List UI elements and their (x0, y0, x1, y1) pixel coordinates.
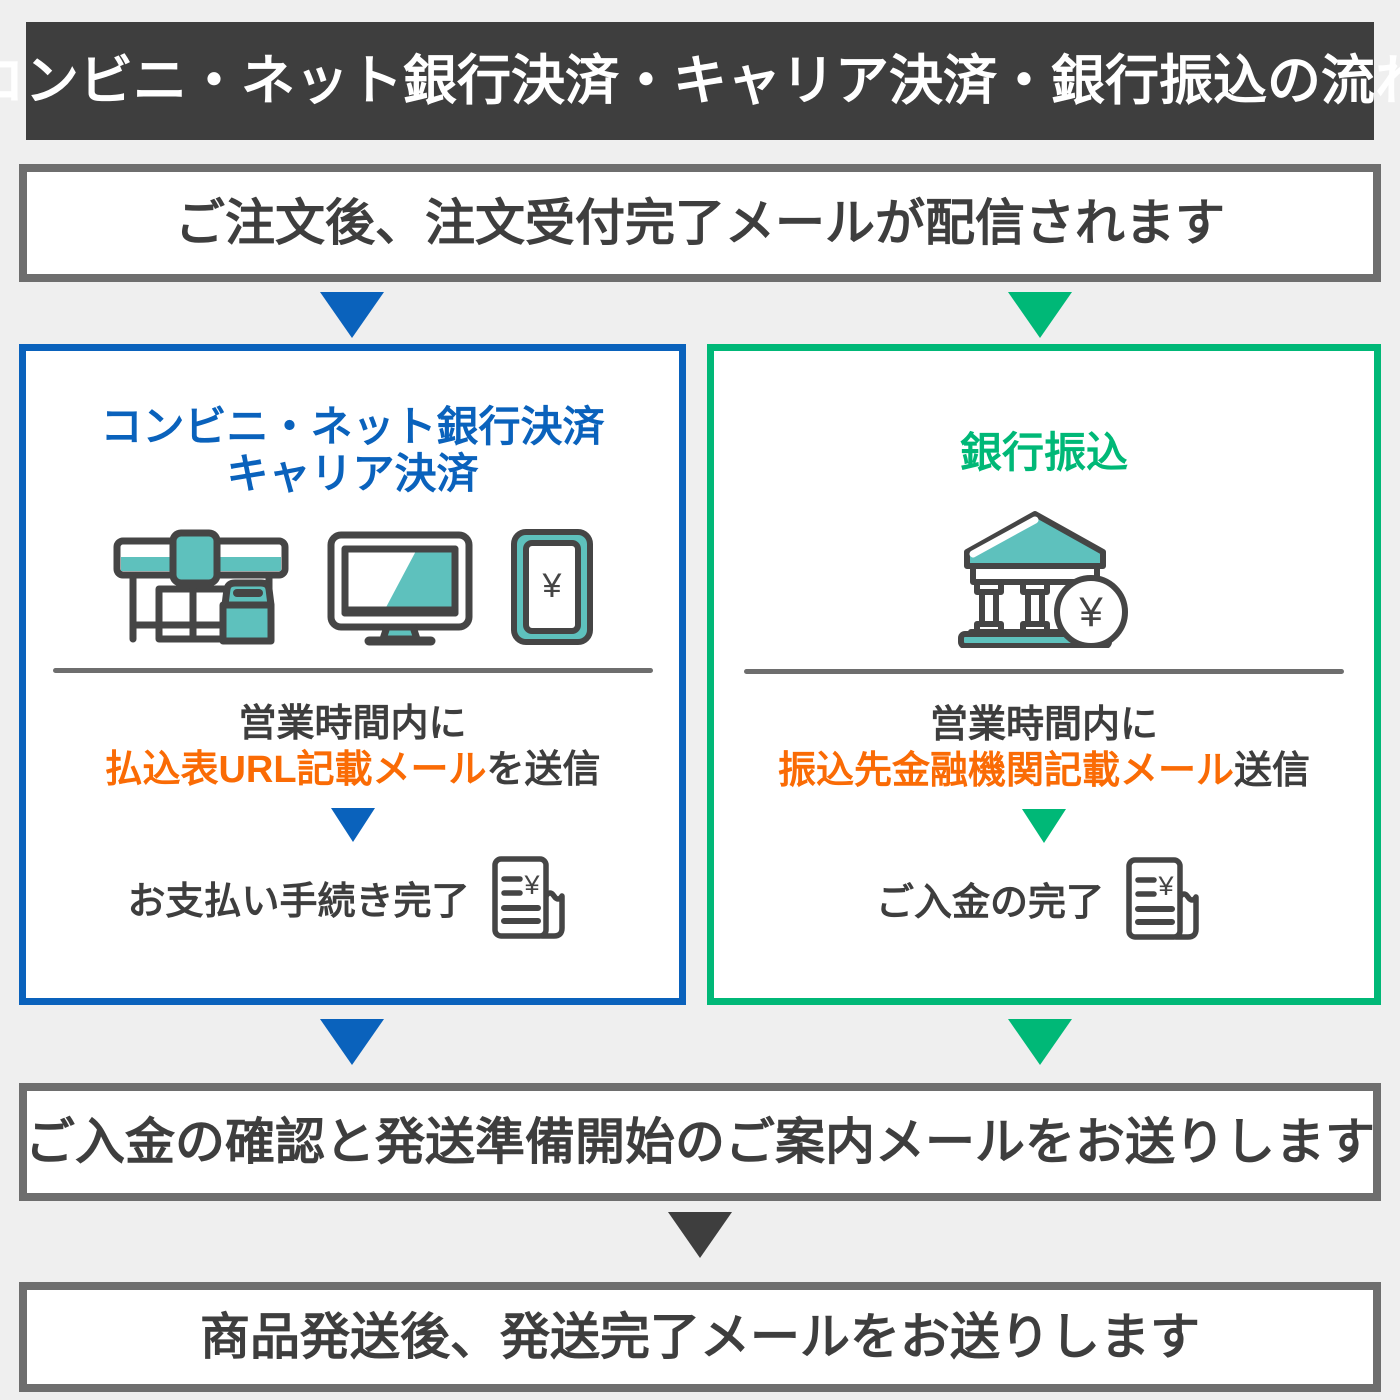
panel-cvs-note: 営業時間内に 払込表URL記載メールを送信 (26, 701, 679, 794)
down-arrow-green-inner (1022, 809, 1066, 843)
step-payment-confirmed-box: ご入金の確認と発送準備開始のご案内メールをお送りします (19, 1083, 1381, 1201)
down-arrow-blue-inner (331, 808, 375, 842)
panel-bank-note-line2: 振込先金融機関記載メール送信 (714, 748, 1374, 794)
panel-cvs-done-label: お支払い手続き完了 (127, 870, 469, 925)
svg-text:¥: ¥ (541, 567, 561, 605)
step-shipped-text: 商品発送後、発送完了メールをお送りします (200, 1312, 1200, 1362)
panel-bank-note: 営業時間内に 振込先金融機関記載メール送信 (714, 702, 1374, 795)
panel-cvs-note-line2: 払込表URL記載メールを送信 (26, 747, 679, 793)
panel-cvs-divider (53, 668, 653, 673)
panel-bank-divider (744, 669, 1344, 674)
panel-bank-icon-row: ¥ (714, 522, 1374, 648)
panel-cvs-heading: コンビニ・ネット銀行決済 キャリア決済 (26, 403, 679, 497)
down-arrow-green-bottom (1008, 1019, 1072, 1065)
panel-bank-done-row: ご入金の完了 ¥ (714, 851, 1374, 947)
step-payment-confirmed-text: ご入金の確認と発送準備開始のご案内メールをお送りします (25, 1117, 1375, 1167)
down-arrow-green-top (1008, 292, 1072, 338)
smartphone-yen-icon: ¥ (509, 527, 595, 647)
step-order-email-text: ご注文後、注文受付完了メールが配信されます (175, 198, 1225, 248)
panel-cvs-icon-row: ¥ (26, 521, 679, 647)
svg-text:¥: ¥ (1157, 871, 1174, 901)
panel-bank-done-label: ご入金の完了 (876, 871, 1104, 926)
panel-cvs-inner-arrow-wrap (26, 808, 679, 842)
panel-bank-note-line1: 営業時間内に (714, 702, 1374, 748)
down-arrow-blue-bottom (320, 1019, 384, 1065)
panel-cvs-note-line1: 営業時間内に (26, 701, 679, 747)
step-order-email-box: ご注文後、注文受付完了メールが配信されます (19, 164, 1381, 282)
step-shipped-box: 商品発送後、発送完了メールをお送りします (19, 1282, 1381, 1392)
svg-text:¥: ¥ (1078, 588, 1103, 635)
panel-convenience-payment: コンビニ・ネット銀行決済 キャリア決済 (19, 344, 686, 1005)
panel-cvs-note-suffix: を送信 (487, 749, 601, 791)
panel-cvs-note-highlight: 払込表URL記載メール (104, 749, 486, 791)
down-arrow-dark-final (668, 1212, 732, 1258)
page-title-bar: コンビニ・ネット銀行決済・キャリア決済・銀行振込の流れ (26, 22, 1374, 140)
desktop-monitor-icon (325, 527, 475, 647)
flow-diagram-root: コンビニ・ネット銀行決済・キャリア決済・銀行振込の流れ ご注文後、注文受付完了メ… (0, 0, 1400, 1400)
panel-cvs-done-row: お支払い手続き完了 ¥ (26, 850, 679, 946)
panel-bank-transfer: 銀行振込 (707, 344, 1381, 1005)
svg-text:¥: ¥ (523, 870, 540, 900)
convenience-store-icon (111, 527, 291, 647)
invoice-yen-icon: ¥ (1120, 851, 1212, 947)
bank-building-yen-icon: ¥ (949, 508, 1139, 648)
panel-bank-heading: 銀行振込 (714, 429, 1374, 476)
panel-bank-inner-arrow-wrap (714, 809, 1374, 843)
panel-bank-note-highlight: 振込先金融機関記載メール (778, 750, 1234, 792)
invoice-yen-icon: ¥ (486, 850, 578, 946)
down-arrow-blue-top (320, 292, 384, 338)
page-title: コンビニ・ネット銀行決済・キャリア決済・銀行振込の流れ (0, 54, 1400, 108)
panel-bank-note-suffix: 送信 (1234, 750, 1310, 792)
